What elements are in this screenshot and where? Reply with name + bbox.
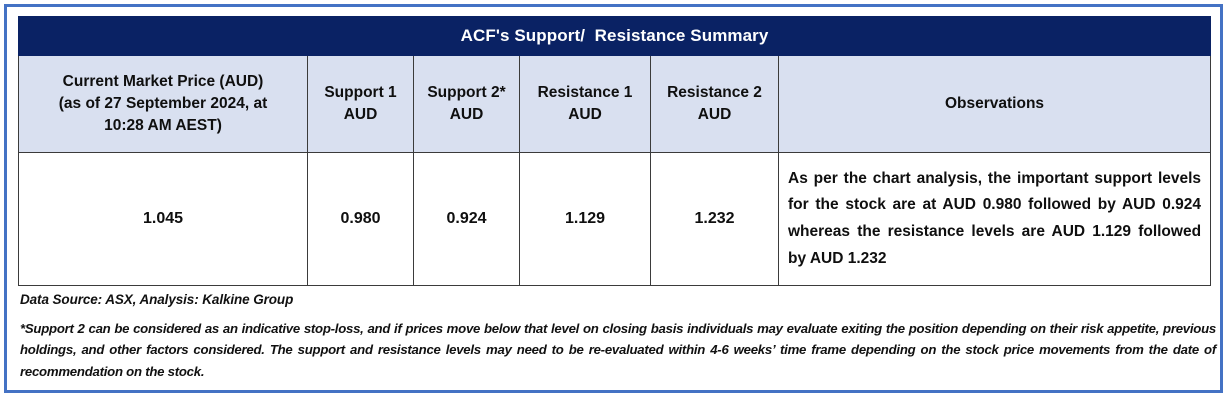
header-support-1: Support 1 AUD [308, 56, 414, 153]
cell-support-1: 0.980 [308, 153, 414, 286]
table-title-row: ACF's Support/ Resistance Summary [19, 17, 1211, 56]
header-cmp-line3: 10:28 AM AEST) [23, 115, 303, 137]
cell-resistance-2: 1.232 [651, 153, 779, 286]
data-source-note: Data Source: ASX, Analysis: Kalkine Grou… [20, 292, 1209, 307]
header-cmp-line1: Current Market Price (AUD) [23, 71, 303, 93]
disclaimer-note: *Support 2 can be considered as an indic… [20, 318, 1216, 382]
outer-frame: ACF's Support/ Resistance Summary Curren… [4, 4, 1223, 393]
cell-resistance-1: 1.129 [520, 153, 651, 286]
header-resistance-2: Resistance 2 AUD [651, 56, 779, 153]
header-cmp-line2: (as of 27 September 2024, at [23, 93, 303, 115]
header-support-2-unit: AUD [418, 104, 515, 126]
cell-observations: As per the chart analysis, the important… [779, 153, 1211, 286]
header-current-market-price: Current Market Price (AUD) (as of 27 Sep… [19, 56, 308, 153]
header-support-2: Support 2* AUD [414, 56, 520, 153]
header-resistance-1: Resistance 1 AUD [520, 56, 651, 153]
header-observations-label: Observations [783, 93, 1206, 115]
table-header-row: Current Market Price (AUD) (as of 27 Sep… [19, 56, 1211, 153]
header-resistance-1-unit: AUD [524, 104, 646, 126]
header-resistance-2-unit: AUD [655, 104, 774, 126]
content-area: ACF's Support/ Resistance Summary Curren… [7, 7, 1220, 390]
header-resistance-1-label: Resistance 1 [524, 82, 646, 104]
header-support-2-label: Support 2* [418, 82, 515, 104]
header-support-1-label: Support 1 [312, 82, 409, 104]
header-resistance-2-label: Resistance 2 [655, 82, 774, 104]
cell-current-market-price: 1.045 [19, 153, 308, 286]
header-observations: Observations [779, 56, 1211, 153]
table-row: 1.045 0.980 0.924 1.129 1.232 As per the… [19, 153, 1211, 286]
cell-support-2: 0.924 [414, 153, 520, 286]
table-title: ACF's Support/ Resistance Summary [19, 17, 1211, 56]
support-resistance-table: ACF's Support/ Resistance Summary Curren… [18, 16, 1211, 286]
header-support-1-unit: AUD [312, 104, 409, 126]
support-resistance-summary-page: ACF's Support/ Resistance Summary Curren… [0, 0, 1227, 401]
